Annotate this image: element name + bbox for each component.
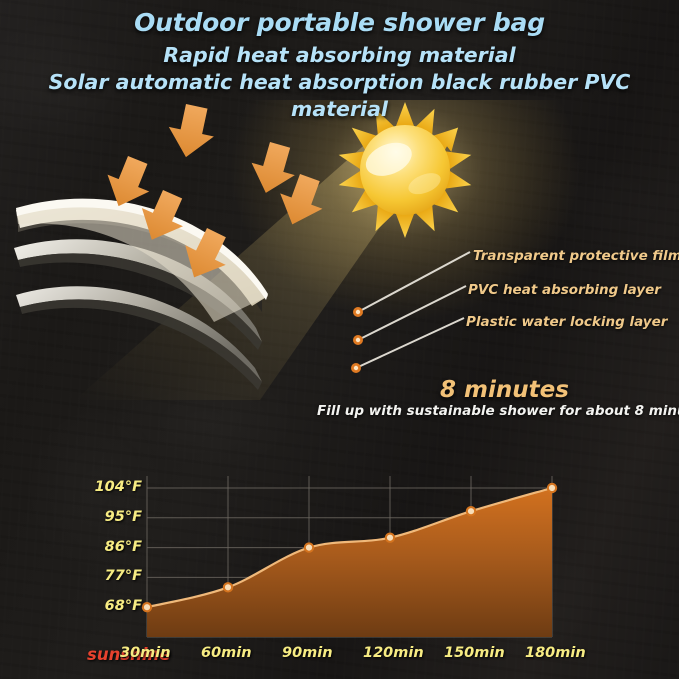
page-subtitle-1: Rapid heat absorbing material — [0, 42, 679, 69]
chart-x-tick-label: 60min — [201, 645, 252, 661]
heading-block: Outdoor portable shower bag Rapid heat a… — [0, 8, 679, 122]
chart-data-point-center — [387, 535, 393, 541]
chart-data-point-center — [306, 545, 312, 551]
minutes-value: 8 minutes — [440, 377, 569, 403]
callout-dot — [353, 307, 363, 317]
callout-dot — [353, 335, 363, 345]
chart-y-tick-label: 86°F — [105, 539, 142, 555]
chart-data-point-center — [225, 584, 231, 590]
page-title: Outdoor portable shower bag — [0, 8, 679, 39]
chart-x-tick-label: 30min — [120, 645, 171, 661]
chart-data-point-center — [549, 485, 555, 491]
minutes-description: Fill up with sustainable shower for abou… — [317, 403, 679, 419]
chart-x-tick-label: 120min — [363, 645, 424, 661]
callout-label-transparent-protective-film: Transparent protective film — [473, 248, 679, 264]
chart-y-axis-labels: 104°F95°F86°F77°F68°F — [90, 440, 142, 640]
chart-y-tick-label: 104°F — [95, 479, 142, 495]
chart-area-fill — [147, 488, 552, 637]
chart-data-point-center — [144, 604, 150, 610]
infographic-page: Outdoor portable shower bag Rapid heat a… — [0, 0, 679, 679]
callout-dot — [351, 363, 361, 373]
page-subtitle-2: Solar automatic heat absorption black ru… — [0, 69, 679, 122]
chart-y-tick-label: 95°F — [105, 509, 142, 525]
chart-x-tick-label: 90min — [282, 645, 333, 661]
callout-label-pvc-heat-absorbing-layer: PVC heat absorbing layer — [468, 282, 661, 298]
chart-x-tick-label: 150min — [444, 645, 505, 661]
chart-x-tick-label: 180min — [525, 645, 586, 661]
chart-y-tick-label: 77°F — [105, 568, 142, 584]
chart-data-point-center — [468, 508, 474, 514]
chart-y-tick-label: 68°F — [105, 598, 142, 614]
callout-label-plastic-water-locking-layer: Plastic water locking layer — [466, 314, 667, 330]
